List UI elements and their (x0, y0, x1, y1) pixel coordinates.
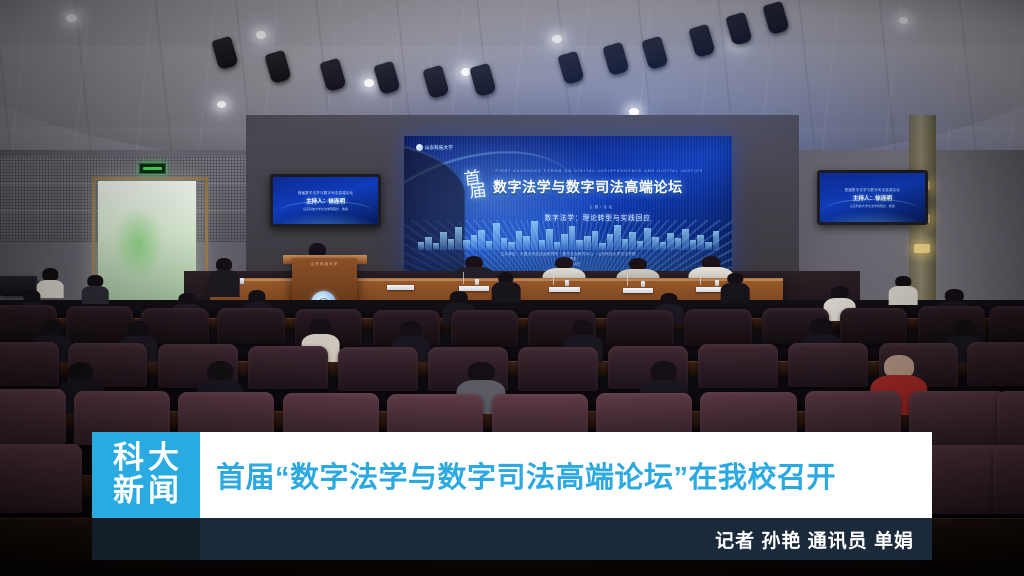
wall-monitor-left-screen: 首届数字法学与数字司法高端论坛 主持人：徐连明 山东科技大学文法学院院长、教授 (273, 177, 377, 224)
audience-body (889, 286, 918, 305)
led-skyline-graphic (418, 218, 719, 251)
ceiling-downlight (552, 35, 562, 43)
auditorium-seat (606, 310, 674, 347)
auditorium-seat (0, 389, 66, 443)
wall-monitor-left: 首届数字法学与数字司法高端论坛 主持人：徐连明 山东科技大学文法学院院长、教授 (270, 174, 380, 227)
wall-sconce-light (914, 244, 929, 253)
audience-body (492, 282, 521, 303)
auditorium-seat (993, 445, 1024, 514)
led-forum-title: 数字法学与数字司法高端论坛 (493, 177, 722, 197)
auditorium-seat (217, 308, 285, 345)
led-english-subtitle: FIRST ADVANCED FORUM ON DIGITAL JURISPRU… (477, 169, 723, 173)
auditorium-seat (788, 343, 868, 387)
wall-monitor-right: 首届数字法学与数字司法高端论坛 主持人：徐连明 山东科技大学文法学院院长、教授 (817, 170, 927, 224)
table-microphone (463, 272, 464, 284)
water-cup (715, 280, 719, 286)
university-emblem-icon (416, 144, 423, 151)
auditorium-seat (997, 391, 1024, 445)
doorway-foliage-glow (113, 207, 164, 282)
audience-member (889, 276, 918, 305)
auditorium-seat (967, 342, 1024, 386)
lower-third-credit-bar: 记者 孙艳 通讯员 单娟 (92, 518, 932, 560)
led-theme-label: 主 题 / 论 坛 (503, 204, 700, 209)
monitor-right-arc (826, 199, 918, 219)
auditorium-seat (451, 310, 519, 347)
led-forum-subtitle: 数字法学：理论转型与实践回应 (483, 212, 712, 222)
credit-bar-left-block (92, 518, 200, 560)
auditorium-seat (698, 344, 778, 388)
audience-body (82, 286, 109, 304)
auditorium-seat (338, 347, 418, 391)
headline-panel: 首届“数字法学与数字司法高端论坛”在我校召开 (200, 432, 932, 518)
exit-sign-icon (139, 163, 166, 174)
news-badge-line-2: 新闻 (109, 475, 183, 508)
water-cup (240, 278, 244, 284)
news-headline: 首届“数字法学与数字司法高端论坛”在我校召开 (200, 454, 836, 496)
audience-head (68, 362, 93, 383)
water-cup (475, 279, 479, 285)
table-microphone (627, 274, 628, 286)
name-card (623, 288, 654, 293)
lower-third-headline-row: 科大 新闻 首届“数字法学与数字司法高端论坛”在我校召开 (92, 432, 932, 518)
audience-member (492, 272, 521, 303)
ceiling-downlight (66, 14, 77, 22)
table-microphone (700, 273, 701, 285)
audience-head (884, 355, 914, 378)
name-card (387, 285, 414, 290)
auditorium-seat (684, 309, 752, 346)
audience-member (209, 258, 240, 297)
monitor-left-header: 首届数字法学与数字司法高端论坛 (298, 190, 353, 195)
audience-body (209, 270, 240, 297)
auditorium-seat (518, 347, 598, 391)
broadcast-frame: 山东科技大学 FIRST ADVANCED FORUM ON DIGITAL J… (0, 0, 1024, 576)
news-program-badge: 科大 新闻 (92, 432, 200, 518)
news-badge-line-1: 科大 (109, 442, 183, 475)
wall-monitor-right-screen: 首届数字法学与数字司法高端论坛 主持人：徐连明 山东科技大学文法学院院长、教授 (820, 173, 924, 221)
auditorium-seat (0, 342, 59, 386)
table-microphone (553, 273, 554, 285)
audience-member (721, 273, 750, 303)
audience-body (721, 283, 750, 303)
monitor-right-header: 首届数字法学与数字司法高端论坛 (845, 187, 900, 192)
lower-third-graphic: 科大 新闻 首届“数字法学与数字司法高端论坛”在我校召开 记者 孙艳 通讯员 单… (92, 432, 932, 560)
water-cup (565, 280, 569, 286)
audience-head (207, 361, 232, 382)
led-logo-text: 山东科技大学 (425, 145, 453, 151)
name-card (459, 286, 490, 291)
monitor-left-arc (280, 201, 372, 221)
auditorium-seat (0, 444, 82, 513)
led-university-logo: 山东科技大学 (416, 144, 453, 151)
audience-head (650, 361, 677, 382)
led-backdrop-screen: 山东科技大学 FIRST ADVANCED FORUM ON DIGITAL J… (404, 136, 732, 272)
news-credit: 记者 孙艳 通讯员 单娟 (715, 526, 932, 553)
podium-front-text: 山东科技大学 (285, 262, 365, 267)
name-card (549, 287, 580, 292)
water-cup (641, 281, 645, 287)
audience-member (82, 275, 109, 304)
audience-head (468, 362, 495, 383)
auditorium-seat (989, 306, 1024, 343)
auditorium-seat (840, 308, 908, 345)
auditorium-seat (248, 346, 328, 390)
